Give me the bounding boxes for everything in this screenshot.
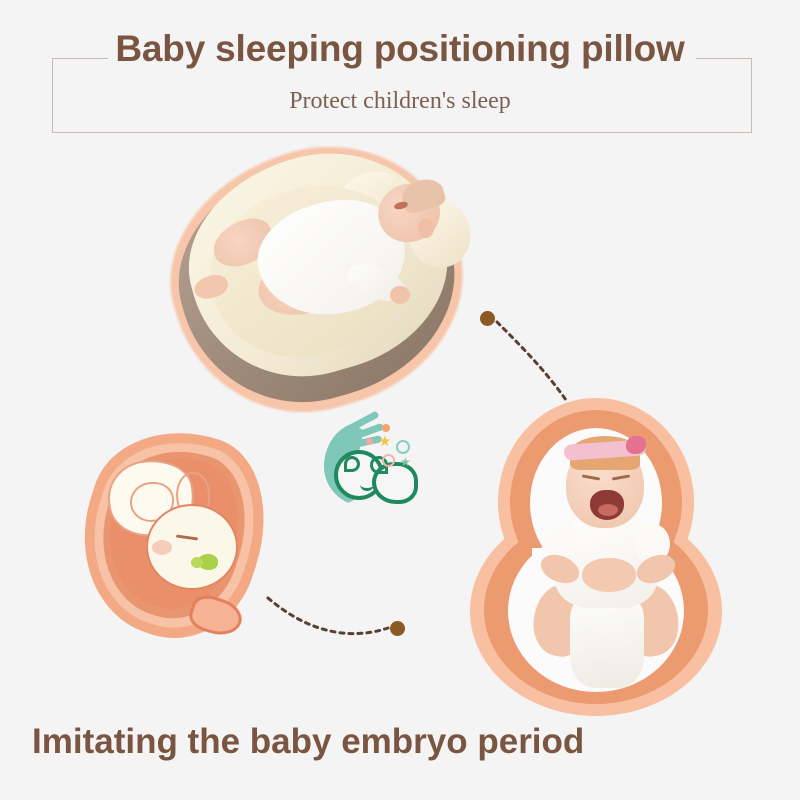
green-star-icon: ★ (400, 456, 411, 468)
yellow-star-icon: ★ (378, 434, 391, 449)
laughing-baby-in-pear-frame-image (460, 398, 750, 716)
baby-on-positioning-pillow-image (150, 140, 480, 415)
baby-ear (418, 218, 434, 238)
sleeping-baby-brand-logo: ★ ★ (320, 414, 432, 514)
fetus-cheek (152, 540, 172, 555)
connector-dot-lower (390, 621, 405, 636)
footer-caption: Imitating the baby embryo period (32, 722, 584, 762)
laughing-baby-headband-bow (626, 436, 646, 454)
fetus-green-accent (198, 554, 218, 570)
fetus-in-womb-illustration (72, 422, 290, 650)
teal-ring-icon (396, 440, 410, 454)
connector-dot-upper (480, 311, 495, 326)
product-banner: Baby sleeping positioning pillow Protect… (0, 0, 800, 800)
page-subtitle: Protect children's sleep (0, 88, 800, 115)
laughing-baby-tongue (598, 504, 618, 516)
page-title: Baby sleeping positioning pillow (0, 28, 800, 70)
pink-ring-icon (382, 454, 395, 467)
orange-dot-icon (382, 424, 390, 432)
logo-baby-hair-swirl-icon (344, 456, 360, 472)
connector-line-upper (497, 322, 566, 400)
laughing-baby-diaper (570, 596, 644, 688)
baby-hand (390, 286, 410, 304)
laughing-baby-hands (582, 558, 636, 592)
pink-dot-icon (366, 438, 373, 445)
